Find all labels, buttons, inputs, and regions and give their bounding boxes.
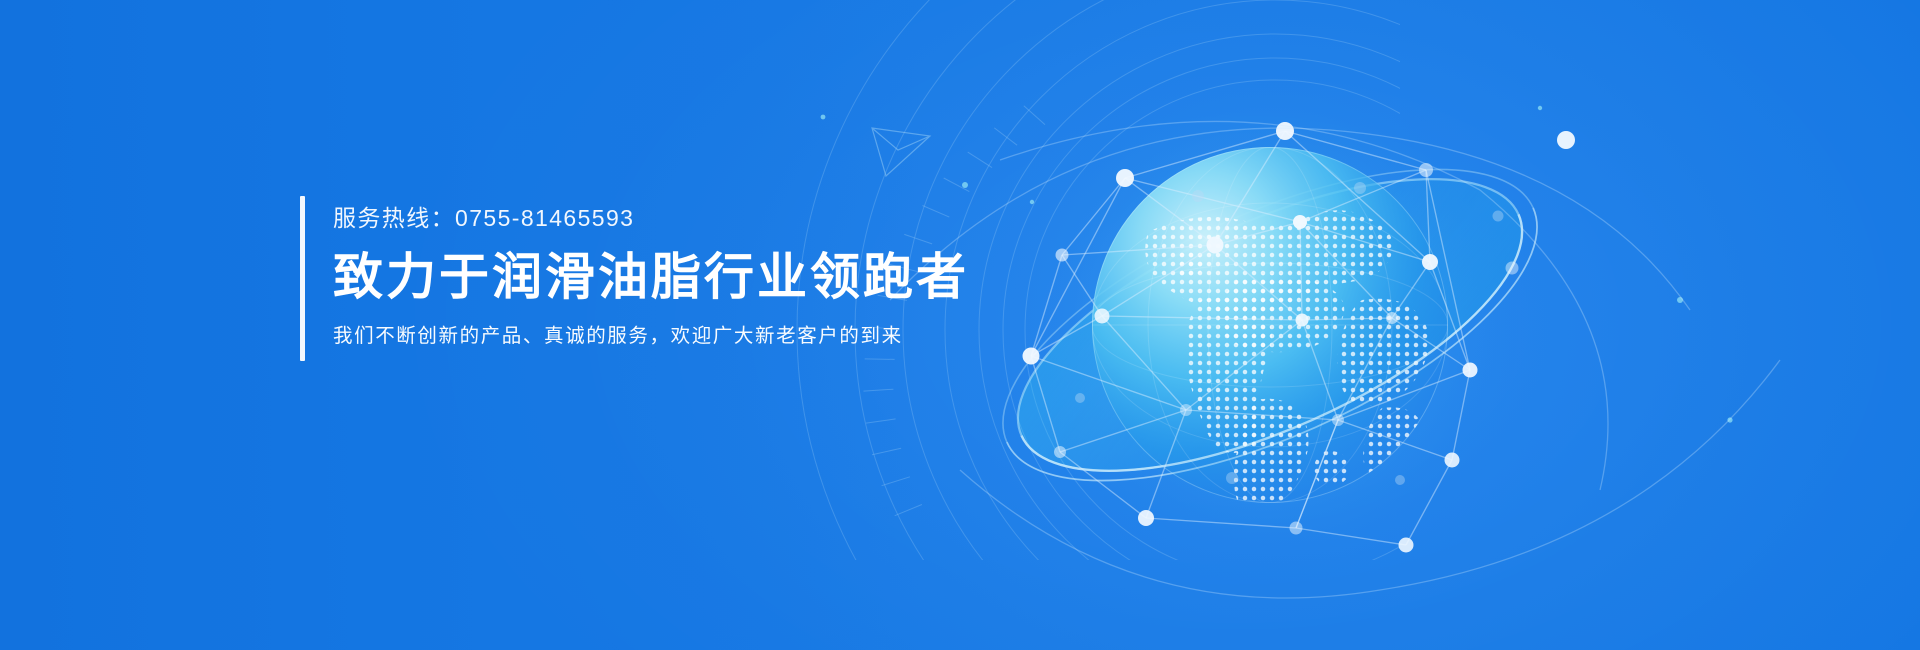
accent-bar <box>300 196 305 361</box>
hero-banner: 服务热线：0755-81465593 致力于润滑油脂行业领跑者 我们不断创新的产… <box>0 0 1920 650</box>
hero-text-lines: 服务热线：0755-81465593 致力于润滑油脂行业领跑者 我们不断创新的产… <box>333 196 969 361</box>
page-title: 致力于润滑油脂行业领跑者 <box>333 245 969 309</box>
hero-text-block: 服务热线：0755-81465593 致力于润滑油脂行业领跑者 我们不断创新的产… <box>300 196 969 361</box>
page-subtitle: 我们不断创新的产品、真诚的服务，欢迎广大新老客户的到来 <box>333 325 969 348</box>
service-hotline: 服务热线：0755-81465593 <box>333 206 969 231</box>
